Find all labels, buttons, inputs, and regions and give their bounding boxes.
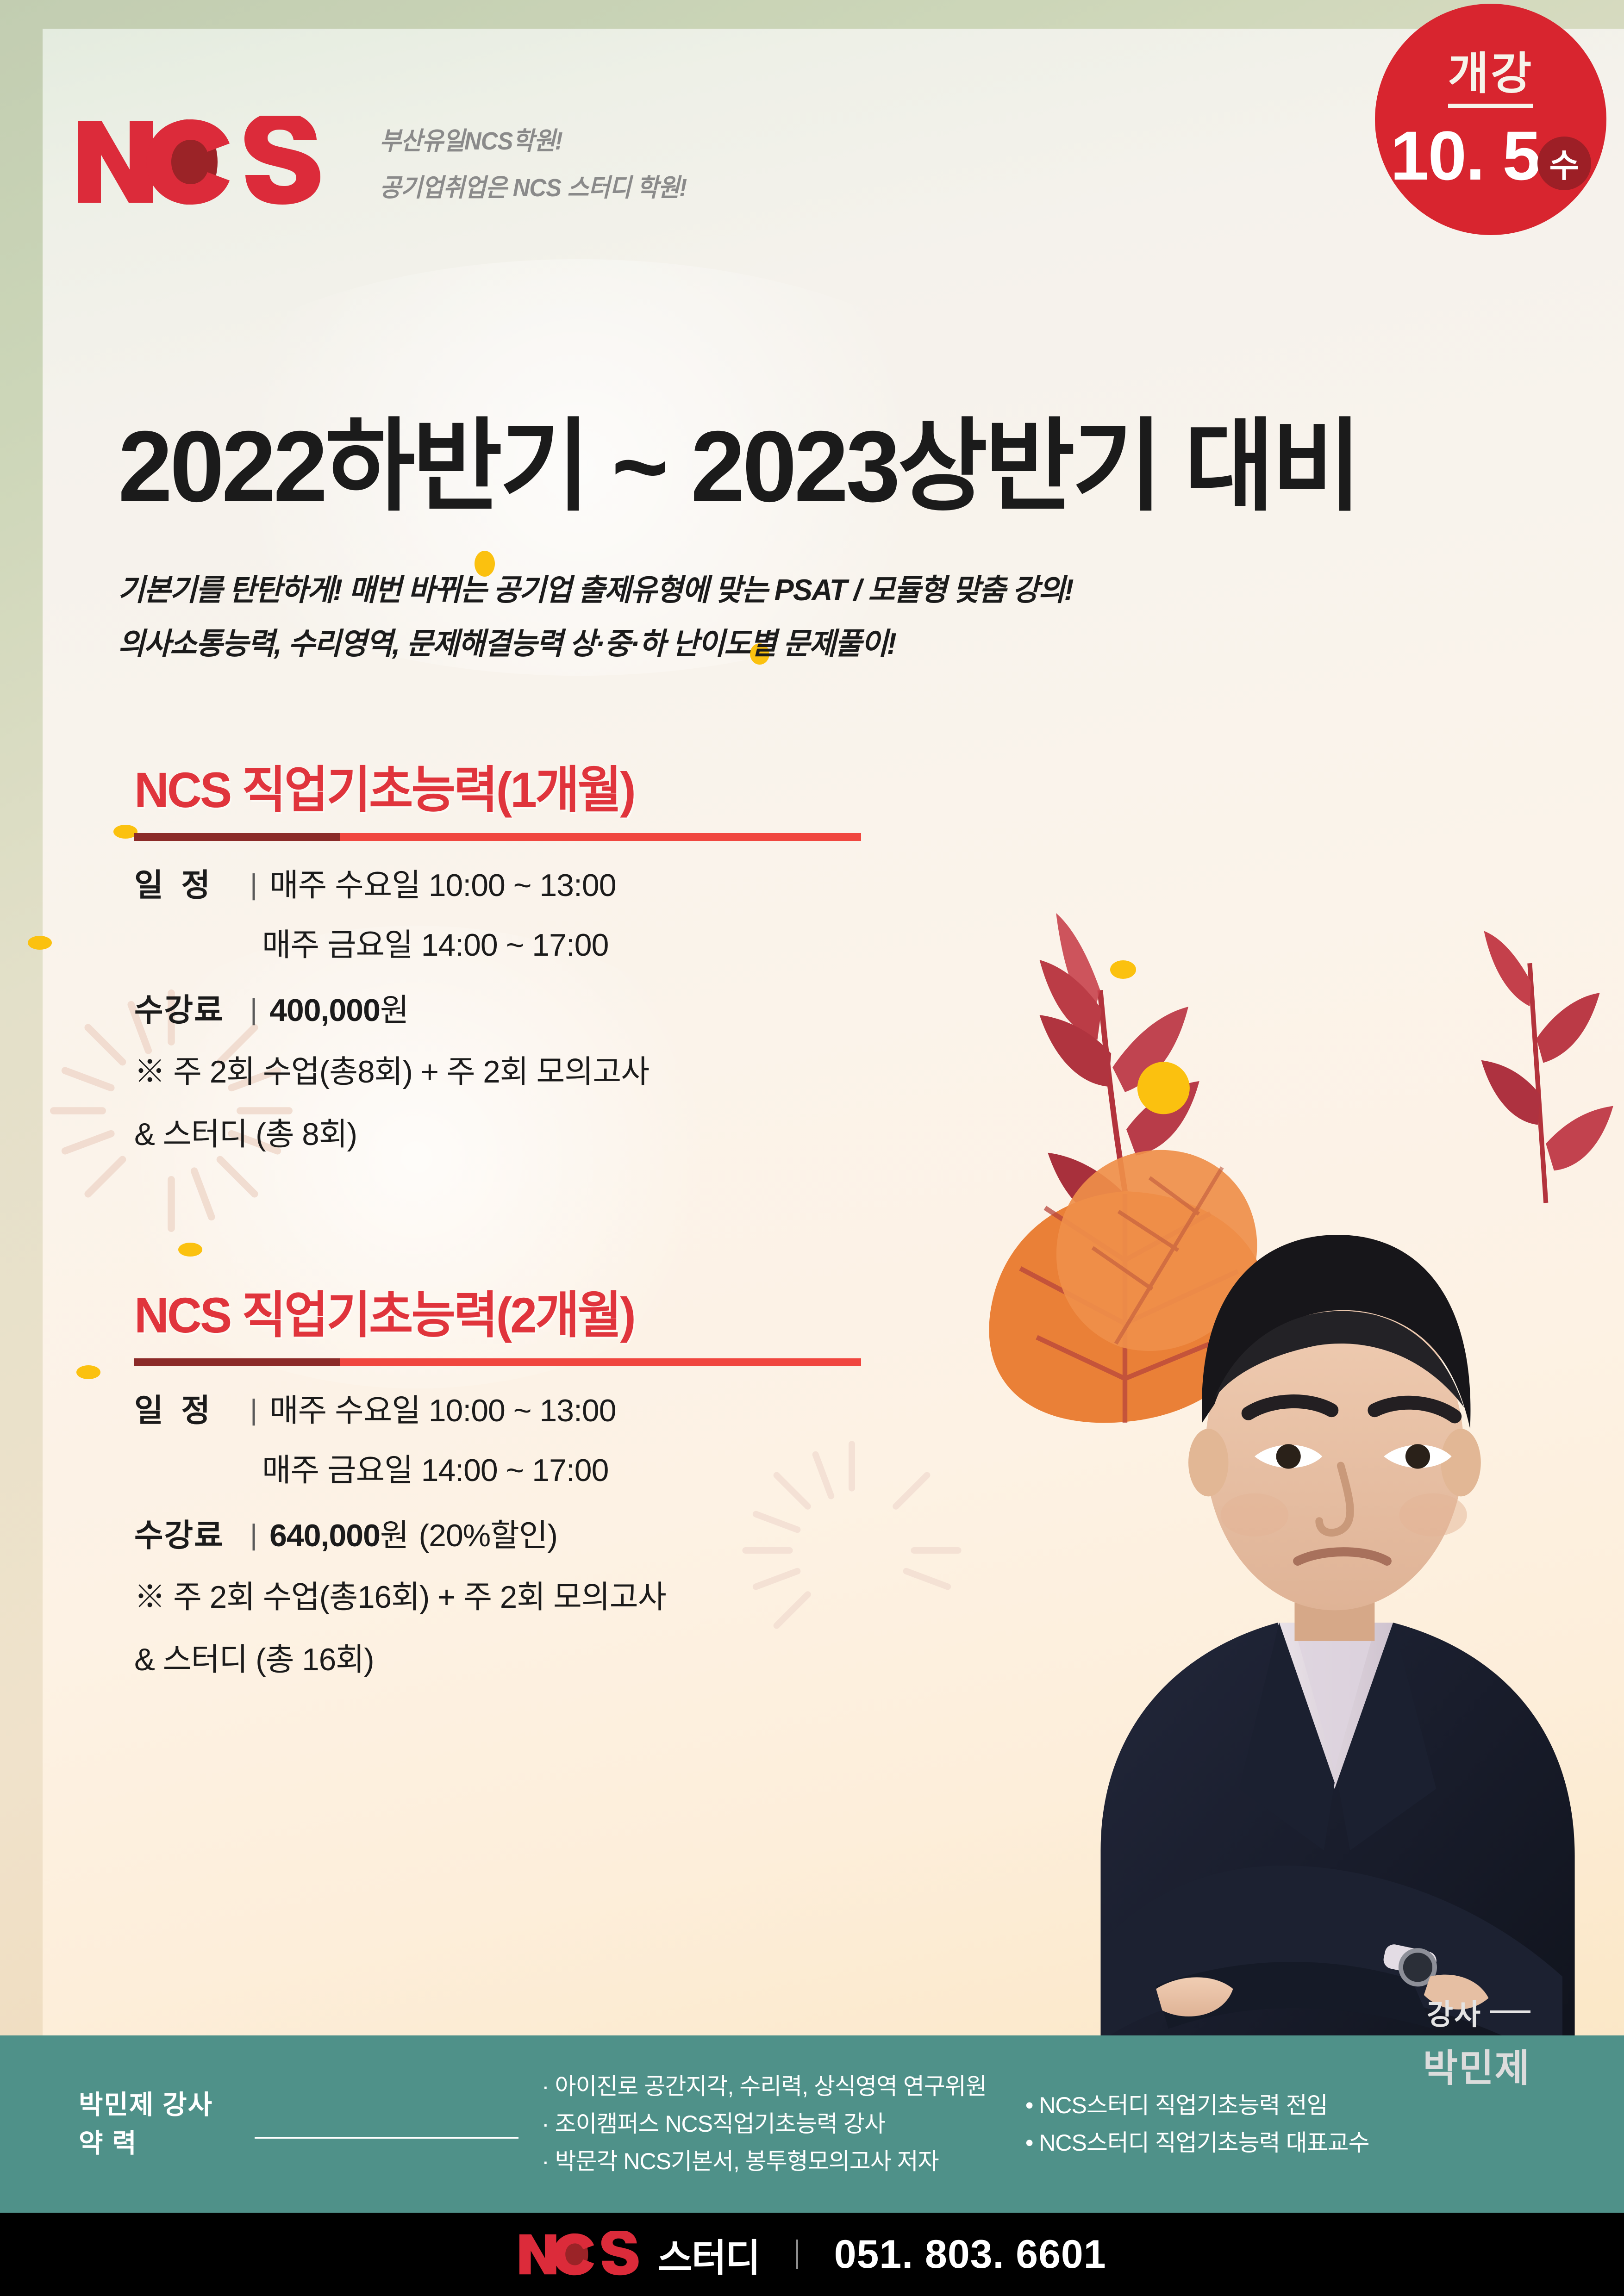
tagline-line-2: 공기업취업은 NCS 스터디 학원!	[380, 167, 687, 204]
credential-item: · 조이캠퍼스 NCS직업기초능력 강사	[542, 2105, 987, 2143]
ncs-logo-icon	[74, 116, 347, 208]
leaf-cluster-right-edge	[1476, 879, 1624, 1203]
course-2-details: 일 정 | 매주 수요일 10:00 ~ 13:00 매주 금요일 14:00 …	[134, 1385, 861, 1680]
course-2-fee-label: 수강료	[134, 1510, 250, 1556]
ncs-logo-icon	[518, 2231, 652, 2277]
course-1-fee-amount: 400,000	[269, 992, 380, 1028]
underline-dark-segment	[134, 1358, 340, 1366]
decor-dot-4	[178, 1243, 202, 1257]
page-title: 2022하반기 ~ 2023상반기 대비	[118, 384, 1359, 530]
course-2-note-line-2: & 스터디 (총 16회)	[134, 1634, 854, 1680]
footer-logo: 스터디	[518, 2227, 759, 2282]
course-1-heading: NCS 직업기초능력(1개월)	[134, 750, 832, 822]
footer-logo-suffix: 스터디	[657, 2227, 759, 2282]
course-2-heading: NCS 직업기초능력(2개월)	[134, 1275, 832, 1347]
subtitle-line-2: 의사소통능력, 수리영역, 문제해결능력 상·중·하 난이도별 문제풀이!	[118, 619, 1073, 663]
course-1-fee-unit: 원	[380, 984, 409, 1030]
caption-dash	[1490, 2010, 1530, 2013]
subtitle-line-1: 기본기를 탄탄하게! 매번 바뀌는 공기업 출제유형에 맞는 PSAT / 모듈…	[118, 566, 1073, 609]
poster-root: 부산유일NCS학원! 공기업취업은 NCS 스터디 학원! 개강 10. 5 수…	[0, 0, 1624, 2296]
underline-dark-segment	[134, 833, 340, 841]
course-2-fee-suffix: (20%할인)	[418, 1510, 557, 1556]
course-2-schedule-row-2: 매주 금요일 14:00 ~ 17:00	[134, 1444, 861, 1490]
credentials-band: 박민제 강사 약 력 · 아이진로 공간지각, 수리력, 상식영역 연구위원 ·…	[0, 2035, 1624, 2213]
badge-date: 10. 5	[1390, 124, 1540, 187]
credentials-column-b: • NCS스터디 직업기초능력 전임 • NCS스터디 직업기초능력 대표교수	[1025, 2087, 1369, 2162]
course-2-schedule-line-2: 매주 금요일 14:00 ~ 17:00	[262, 1444, 608, 1490]
header-logo-row: 부산유일NCS학원! 공기업취업은 NCS 스터디 학원!	[74, 116, 706, 208]
footer-bar: 스터디 051. 803. 6601	[0, 2213, 1624, 2296]
underline-light-segment	[340, 1358, 861, 1366]
course-2-schedule-row-1: 일 정 | 매주 수요일 10:00 ~ 13:00	[134, 1385, 861, 1431]
tagline-line-1: 부산유일NCS학원!	[380, 120, 687, 157]
instructor-role: 강사	[1427, 1991, 1481, 2033]
credentials-column-a: · 아이진로 공간지각, 수리력, 상식영역 연구위원 · 조이캠퍼스 NCS직…	[542, 2068, 987, 2180]
course-block-1: NCS 직업기초능력(1개월) 일 정 | 매주 수요일 10:00 ~ 13:…	[134, 750, 861, 1154]
credentials-title-line-2: 약 력	[79, 2124, 250, 2163]
credential-item: · 아이진로 공간지각, 수리력, 상식영역 연구위원	[542, 2068, 987, 2105]
course-1-fee-row: 수강료 | 400,000 원	[134, 984, 861, 1030]
course-1-schedule-label: 일 정	[134, 859, 250, 905]
course-2-schedule-line-1: 매주 수요일 10:00 ~ 13:00	[269, 1385, 616, 1431]
credential-item: • NCS스터디 직업기초능력 대표교수	[1025, 2124, 1369, 2162]
instructor-role-line: 강사	[1423, 1991, 1530, 2033]
credential-item: • NCS스터디 직업기초능력 전임	[1025, 2087, 1369, 2124]
underline-light-segment	[340, 833, 861, 841]
leaf-accent-small	[1037, 1092, 1278, 1351]
header-tagline: 부산유일NCS학원! 공기업취업은 NCS 스터디 학원!	[380, 120, 706, 204]
course-1-details: 일 정 | 매주 수요일 10:00 ~ 13:00 매주 금요일 14:00 …	[134, 859, 861, 1154]
decor-dot-3	[28, 936, 52, 950]
footer-phone: 051. 803. 6601	[834, 2232, 1106, 2277]
course-block-2: NCS 직업기초능력(2개월) 일 정 | 매주 수요일 10:00 ~ 13:…	[134, 1275, 861, 1680]
badge-weekday: 수	[1537, 137, 1591, 190]
course-1-underline	[134, 833, 861, 841]
course-2-note-line-1: ※ 주 2회 수업(총16회) + 주 2회 모의고사	[134, 1571, 854, 1617]
subtitle-block: 기본기를 탄탄하게! 매번 바뀌는 공기업 출제유형에 맞는 PSAT / 모듈…	[118, 566, 1103, 663]
credentials-divider	[255, 2137, 518, 2139]
credential-item: · 박문각 NCS기본서, 봉투형모의고사 저자	[542, 2143, 987, 2180]
course-2-fee-unit: 원	[380, 1510, 409, 1556]
open-date-badge: 개강 10. 5 수	[1375, 4, 1606, 235]
course-2-fee-row: 수강료 | 640,000 원 (20%할인)	[134, 1510, 861, 1556]
credentials-title: 박민제 강사 약 력	[79, 2086, 250, 2162]
course-1-fee-label: 수강료	[134, 984, 250, 1030]
course-2-fee-amount: 640,000	[269, 1518, 380, 1554]
course-1-schedule-row-2: 매주 금요일 14:00 ~ 17:00	[134, 919, 861, 965]
course-2-underline	[134, 1358, 861, 1366]
badge-label: 개강	[1448, 52, 1534, 108]
divider-glyph: |	[250, 868, 257, 901]
instructor-name: 박민제	[1423, 2037, 1530, 2092]
divider-glyph: |	[250, 993, 257, 1026]
course-1-note-line-1: ※ 주 2회 수업(총8회) + 주 2회 모의고사	[134, 1046, 854, 1092]
decor-dot-5	[76, 1365, 100, 1379]
course-1-note-line-2: & 스터디 (총 8회)	[134, 1108, 854, 1154]
course-1-schedule-line-1: 매주 수요일 10:00 ~ 13:00	[269, 859, 616, 905]
credentials-title-line-1: 박민제 강사	[79, 2086, 250, 2124]
divider-glyph: |	[250, 1518, 257, 1551]
course-2-schedule-label: 일 정	[134, 1385, 250, 1431]
badge-date-row: 10. 5 수	[1390, 124, 1591, 187]
footer-separator	[796, 2240, 798, 2269]
poster-inner-panel	[43, 29, 1624, 2296]
divider-glyph: |	[250, 1394, 257, 1426]
course-1-schedule-row-1: 일 정 | 매주 수요일 10:00 ~ 13:00	[134, 859, 861, 905]
instructor-caption: 강사 박민제	[1423, 1991, 1530, 2092]
course-1-schedule-line-2: 매주 금요일 14:00 ~ 17:00	[262, 919, 608, 965]
